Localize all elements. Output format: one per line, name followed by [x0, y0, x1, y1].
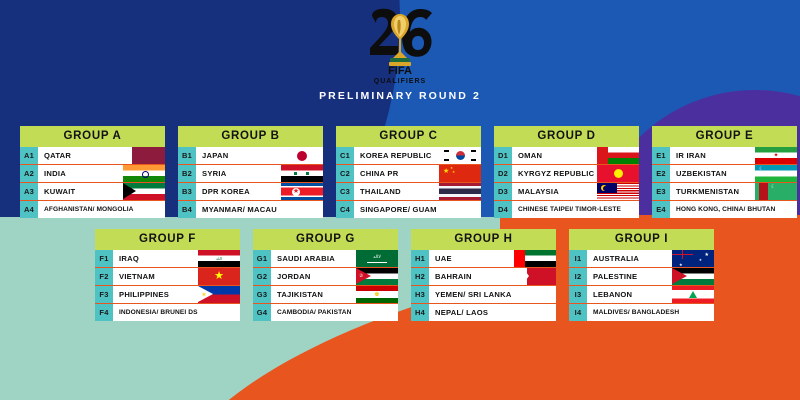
team-name: JAPAN [196, 147, 323, 164]
group-title: GROUP I [569, 229, 714, 250]
table-row: D4CHINESE TAIPEI/ TIMOR-LESTE [494, 201, 639, 218]
table-row: I4MALDIVES/ BANGLADESH [569, 304, 714, 321]
team-position-code: D2 [494, 165, 512, 182]
team-position-code: G1 [253, 250, 271, 267]
fifa-26-qualifiers-logo: FIFA QUALIFIERS [354, 8, 446, 86]
team-position-code: E3 [652, 183, 670, 200]
team-name: QATAR [38, 147, 165, 164]
team-name: TAJIKISTAN [271, 286, 398, 303]
table-row: F4INDONESIA/ BRUNEI DS [95, 304, 240, 321]
table-row: G4CAMBODIA/ PAKISTAN [253, 304, 398, 321]
table-row: C2★★★CHINA PR [336, 165, 481, 183]
team-position-code: F4 [95, 304, 113, 321]
team-name: KYRGYZ REPUBLIC [512, 165, 639, 182]
team-name: SAUDI ARABIA [271, 250, 398, 267]
group-team-list: G1لاالهSAUDI ARABIAG2✰JORDANG3♚TAJIKISTA… [253, 250, 398, 321]
team-name: KOREA REPUBLIC [354, 147, 481, 164]
table-row: F2★VIETNAM [95, 268, 240, 286]
table-row: I1★★★AUSTRALIA [569, 250, 714, 268]
team-name: PHILIPPINES [113, 286, 240, 303]
group-card: GROUP HH1UAEH2BAHRAINH3YEMEN/ SRI LANKAH… [411, 229, 556, 321]
team-position-code: E2 [652, 165, 670, 182]
table-row: B4MYANMAR/ MACAU [178, 201, 323, 218]
logo-brand-text: FIFA [388, 65, 412, 77]
group-card: GROUP DD1OMAND2KYRGYZ REPUBLICD3MALAYSIA… [494, 126, 639, 218]
group-card: GROUP EE1✦IR IRANE2☾UZBEKISTANE3☾TURKMEN… [652, 126, 797, 218]
team-position-code: E1 [652, 147, 670, 164]
team-name: TURKMENISTAN [670, 183, 797, 200]
table-row: H3YEMEN/ SRI LANKA [411, 286, 556, 304]
logo-sub-text: QUALIFIERS [374, 78, 426, 85]
group-card: GROUP AA1QATARA2INDIAA3KUWAITA4AFGHANIST… [20, 126, 165, 218]
team-name: SINGAPORE/ GUAM [354, 201, 481, 218]
table-row: I3LEBANON [569, 286, 714, 304]
team-position-code: D1 [494, 147, 512, 164]
team-position-code: G2 [253, 268, 271, 285]
group-card: GROUP CC1KOREA REPUBLICC2★★★CHINA PRC3TH… [336, 126, 481, 218]
groups-row-bottom: GROUP FF1اللهIRAQF2★VIETNAMF3✶PHILIPPINE… [95, 229, 714, 321]
group-title: GROUP A [20, 126, 165, 147]
group-team-list: B1JAPANB2SYRIAB3★DPR KOREAB4MYANMAR/ MAC… [178, 147, 323, 218]
group-team-list: E1✦IR IRANE2☾UZBEKISTANE3☾TURKMENISTANE4… [652, 147, 797, 218]
team-position-code: H2 [411, 268, 429, 285]
group-card: GROUP GG1لاالهSAUDI ARABIAG2✰JORDANG3♚TA… [253, 229, 398, 321]
team-position-code: H1 [411, 250, 429, 267]
group-card: GROUP BB1JAPANB2SYRIAB3★DPR KOREAB4MYANM… [178, 126, 323, 218]
team-name: DPR KOREA [196, 183, 323, 200]
group-card: GROUP FF1اللهIRAQF2★VIETNAMF3✶PHILIPPINE… [95, 229, 240, 321]
team-position-code: E4 [652, 201, 670, 218]
team-position-code: I4 [569, 304, 587, 321]
group-team-list: A1QATARA2INDIAA3KUWAITA4AFGHANISTAN/ MON… [20, 147, 165, 218]
team-position-code: I2 [569, 268, 587, 285]
table-row: I2PALESTINE [569, 268, 714, 286]
table-row: H4NEPAL/ LAOS [411, 304, 556, 321]
table-row: G2✰JORDAN [253, 268, 398, 286]
team-name: INDONESIA/ BRUNEI DS [113, 304, 240, 321]
team-position-code: H3 [411, 286, 429, 303]
team-position-code: D3 [494, 183, 512, 200]
group-team-list: I1★★★AUSTRALIAI2PALESTINEI3LEBANONI4MALD… [569, 250, 714, 321]
table-row: H1UAE [411, 250, 556, 268]
team-position-code: B4 [178, 201, 196, 218]
table-row: A1QATAR [20, 147, 165, 165]
team-name: LEBANON [587, 286, 714, 303]
team-name: IR IRAN [670, 147, 797, 164]
team-position-code: D4 [494, 201, 512, 218]
team-position-code: C1 [336, 147, 354, 164]
group-team-list: F1اللهIRAQF2★VIETNAMF3✶PHILIPPINESF4INDO… [95, 250, 240, 321]
team-position-code: B3 [178, 183, 196, 200]
team-position-code: A4 [20, 201, 38, 218]
table-row: B1JAPAN [178, 147, 323, 165]
team-name: PALESTINE [587, 268, 714, 285]
group-card: GROUP II1★★★AUSTRALIAI2PALESTINEI3LEBANO… [569, 229, 714, 321]
team-name: INDIA [38, 165, 165, 182]
group-title: GROUP G [253, 229, 398, 250]
group-title: GROUP C [336, 126, 481, 147]
team-position-code: C3 [336, 183, 354, 200]
table-row: C4SINGAPORE/ GUAM [336, 201, 481, 218]
team-name: VIETNAM [113, 268, 240, 285]
group-team-list: C1KOREA REPUBLICC2★★★CHINA PRC3THAILANDC… [336, 147, 481, 218]
team-name: CHINA PR [354, 165, 481, 182]
table-row: B2SYRIA [178, 165, 323, 183]
team-name: MALAYSIA [512, 183, 639, 200]
team-position-code: A3 [20, 183, 38, 200]
team-name: UZBEKISTAN [670, 165, 797, 182]
table-row: F3✶PHILIPPINES [95, 286, 240, 304]
group-title: GROUP B [178, 126, 323, 147]
team-position-code: I3 [569, 286, 587, 303]
table-row: E4HONG KONG, CHINA/ BHUTAN [652, 201, 797, 218]
group-title: GROUP F [95, 229, 240, 250]
team-name: CHINESE TAIPEI/ TIMOR-LESTE [512, 201, 639, 218]
table-row: A2INDIA [20, 165, 165, 183]
table-row: C3THAILAND [336, 183, 481, 201]
table-row: A3KUWAIT [20, 183, 165, 201]
table-row: H2BAHRAIN [411, 268, 556, 286]
team-position-code: B1 [178, 147, 196, 164]
table-row: F1اللهIRAQ [95, 250, 240, 268]
team-position-code: F3 [95, 286, 113, 303]
team-position-code: F1 [95, 250, 113, 267]
team-position-code: B2 [178, 165, 196, 182]
table-row: A4AFGHANISTAN/ MONGOLIA [20, 201, 165, 218]
page-subtitle: PRELIMINARY ROUND 2 [0, 90, 800, 102]
team-name: KUWAIT [38, 183, 165, 200]
team-name: NEPAL/ LAOS [429, 304, 556, 321]
team-name: JORDAN [271, 268, 398, 285]
team-name: UAE [429, 250, 556, 267]
team-name: MALDIVES/ BANGLADESH [587, 304, 714, 321]
groups-row-top: GROUP AA1QATARA2INDIAA3KUWAITA4AFGHANIST… [20, 126, 797, 218]
table-row: E3☾TURKMENISTAN [652, 183, 797, 201]
table-row: E1✦IR IRAN [652, 147, 797, 165]
group-team-list: D1OMAND2KYRGYZ REPUBLICD3MALAYSIAD4CHINE… [494, 147, 639, 218]
team-name: AUSTRALIA [587, 250, 714, 267]
team-name: BAHRAIN [429, 268, 556, 285]
team-name: AFGHANISTAN/ MONGOLIA [38, 201, 165, 218]
team-name: THAILAND [354, 183, 481, 200]
team-position-code: F2 [95, 268, 113, 285]
team-name: HONG KONG, CHINA/ BHUTAN [670, 201, 797, 218]
group-team-list: H1UAEH2BAHRAINH3YEMEN/ SRI LANKAH4NEPAL/… [411, 250, 556, 321]
poster-stage: FIFA QUALIFIERS PRELIMINARY ROUND 2 GROU… [0, 0, 800, 400]
team-position-code: H4 [411, 304, 429, 321]
table-row: E2☾UZBEKISTAN [652, 165, 797, 183]
team-name: MYANMAR/ MACAU [196, 201, 323, 218]
table-row: G1لاالهSAUDI ARABIA [253, 250, 398, 268]
group-title: GROUP D [494, 126, 639, 147]
table-row: D1OMAN [494, 147, 639, 165]
team-position-code: A2 [20, 165, 38, 182]
poster-header: FIFA QUALIFIERS PRELIMINARY ROUND 2 [0, 8, 800, 102]
team-name: IRAQ [113, 250, 240, 267]
team-position-code: C4 [336, 201, 354, 218]
table-row: G3♚TAJIKISTAN [253, 286, 398, 304]
table-row: C1KOREA REPUBLIC [336, 147, 481, 165]
team-name: SYRIA [196, 165, 323, 182]
team-position-code: A1 [20, 147, 38, 164]
table-row: D3MALAYSIA [494, 183, 639, 201]
team-name: OMAN [512, 147, 639, 164]
group-title: GROUP H [411, 229, 556, 250]
team-name: CAMBODIA/ PAKISTAN [271, 304, 398, 321]
group-title: GROUP E [652, 126, 797, 147]
team-position-code: C2 [336, 165, 354, 182]
team-position-code: I1 [569, 250, 587, 267]
team-name: YEMEN/ SRI LANKA [429, 286, 556, 303]
table-row: D2KYRGYZ REPUBLIC [494, 165, 639, 183]
table-row: B3★DPR KOREA [178, 183, 323, 201]
team-position-code: G3 [253, 286, 271, 303]
team-position-code: G4 [253, 304, 271, 321]
